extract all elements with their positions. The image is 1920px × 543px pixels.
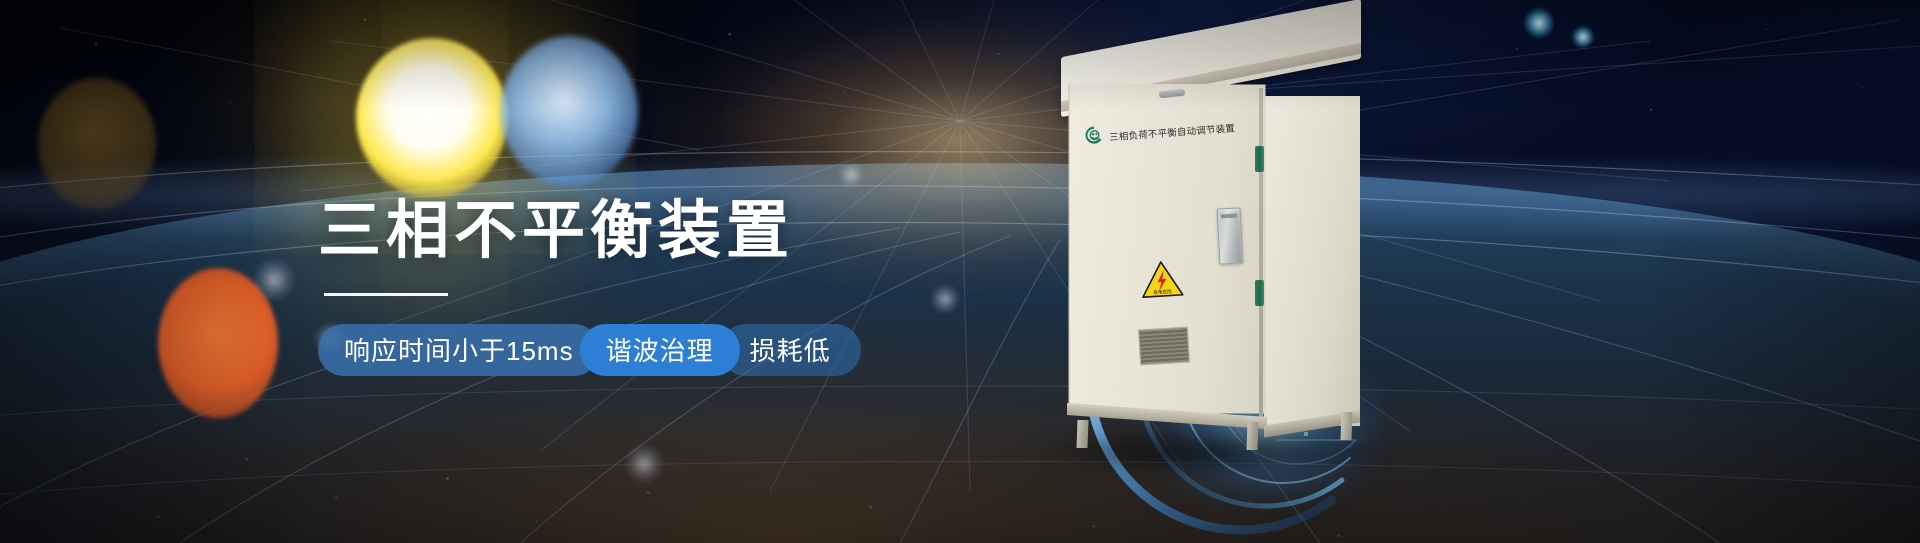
- cabinet-vent-louver: [1138, 327, 1190, 366]
- bokeh-orb-white-yellow: [356, 38, 508, 198]
- cabinet-side-panel: [1264, 96, 1360, 426]
- cabinet-leg: [1247, 422, 1259, 450]
- bokeh-orb-olive: [38, 78, 156, 210]
- bokeh-orb-blue: [500, 36, 638, 186]
- banner-copy: 三相不平衡装置 响应时间小于15ms 谐波治理 损耗低: [318, 196, 1078, 376]
- cabinet-leg: [1341, 412, 1353, 440]
- product-cabinet: 三相负荷不平衡自动调节装置 有电危险: [1055, 28, 1385, 448]
- cabinet-door-handle[interactable]: [1217, 207, 1244, 264]
- node-sparkle: [252, 258, 296, 302]
- title-underline-rule: [324, 293, 448, 296]
- cabinet-leg: [1077, 420, 1089, 448]
- cyan-sparkle: [1572, 26, 1594, 48]
- node-sparkle: [624, 444, 664, 484]
- electrical-hazard-warning-icon: 有电危险: [1140, 259, 1185, 304]
- cyan-sparkle: [1524, 8, 1554, 38]
- green-circular-emblem-icon: [1084, 125, 1105, 150]
- page-title: 三相不平衡装置: [318, 196, 1078, 267]
- cabinet-door-seam: [1259, 88, 1263, 424]
- feature-tag-harmonic-control[interactable]: 谐波治理: [580, 324, 740, 376]
- cabinet-hinge: [1255, 146, 1264, 172]
- hero-banner: 三相负荷不平衡自动调节装置 有电危险 三相不平衡装置 响应时间小于15ms 谐波…: [0, 0, 1920, 543]
- feature-tag-low-loss[interactable]: 损耗低: [720, 324, 861, 376]
- cabinet-label-text: 三相负荷不平衡自动调节装置: [1109, 120, 1236, 143]
- feature-tag-response-time[interactable]: 响应时间小于15ms: [318, 324, 600, 376]
- node-sparkle: [838, 162, 864, 188]
- cabinet-hinge: [1255, 280, 1264, 306]
- feature-tag-list: 响应时间小于15ms 谐波治理 损耗低: [318, 324, 1078, 376]
